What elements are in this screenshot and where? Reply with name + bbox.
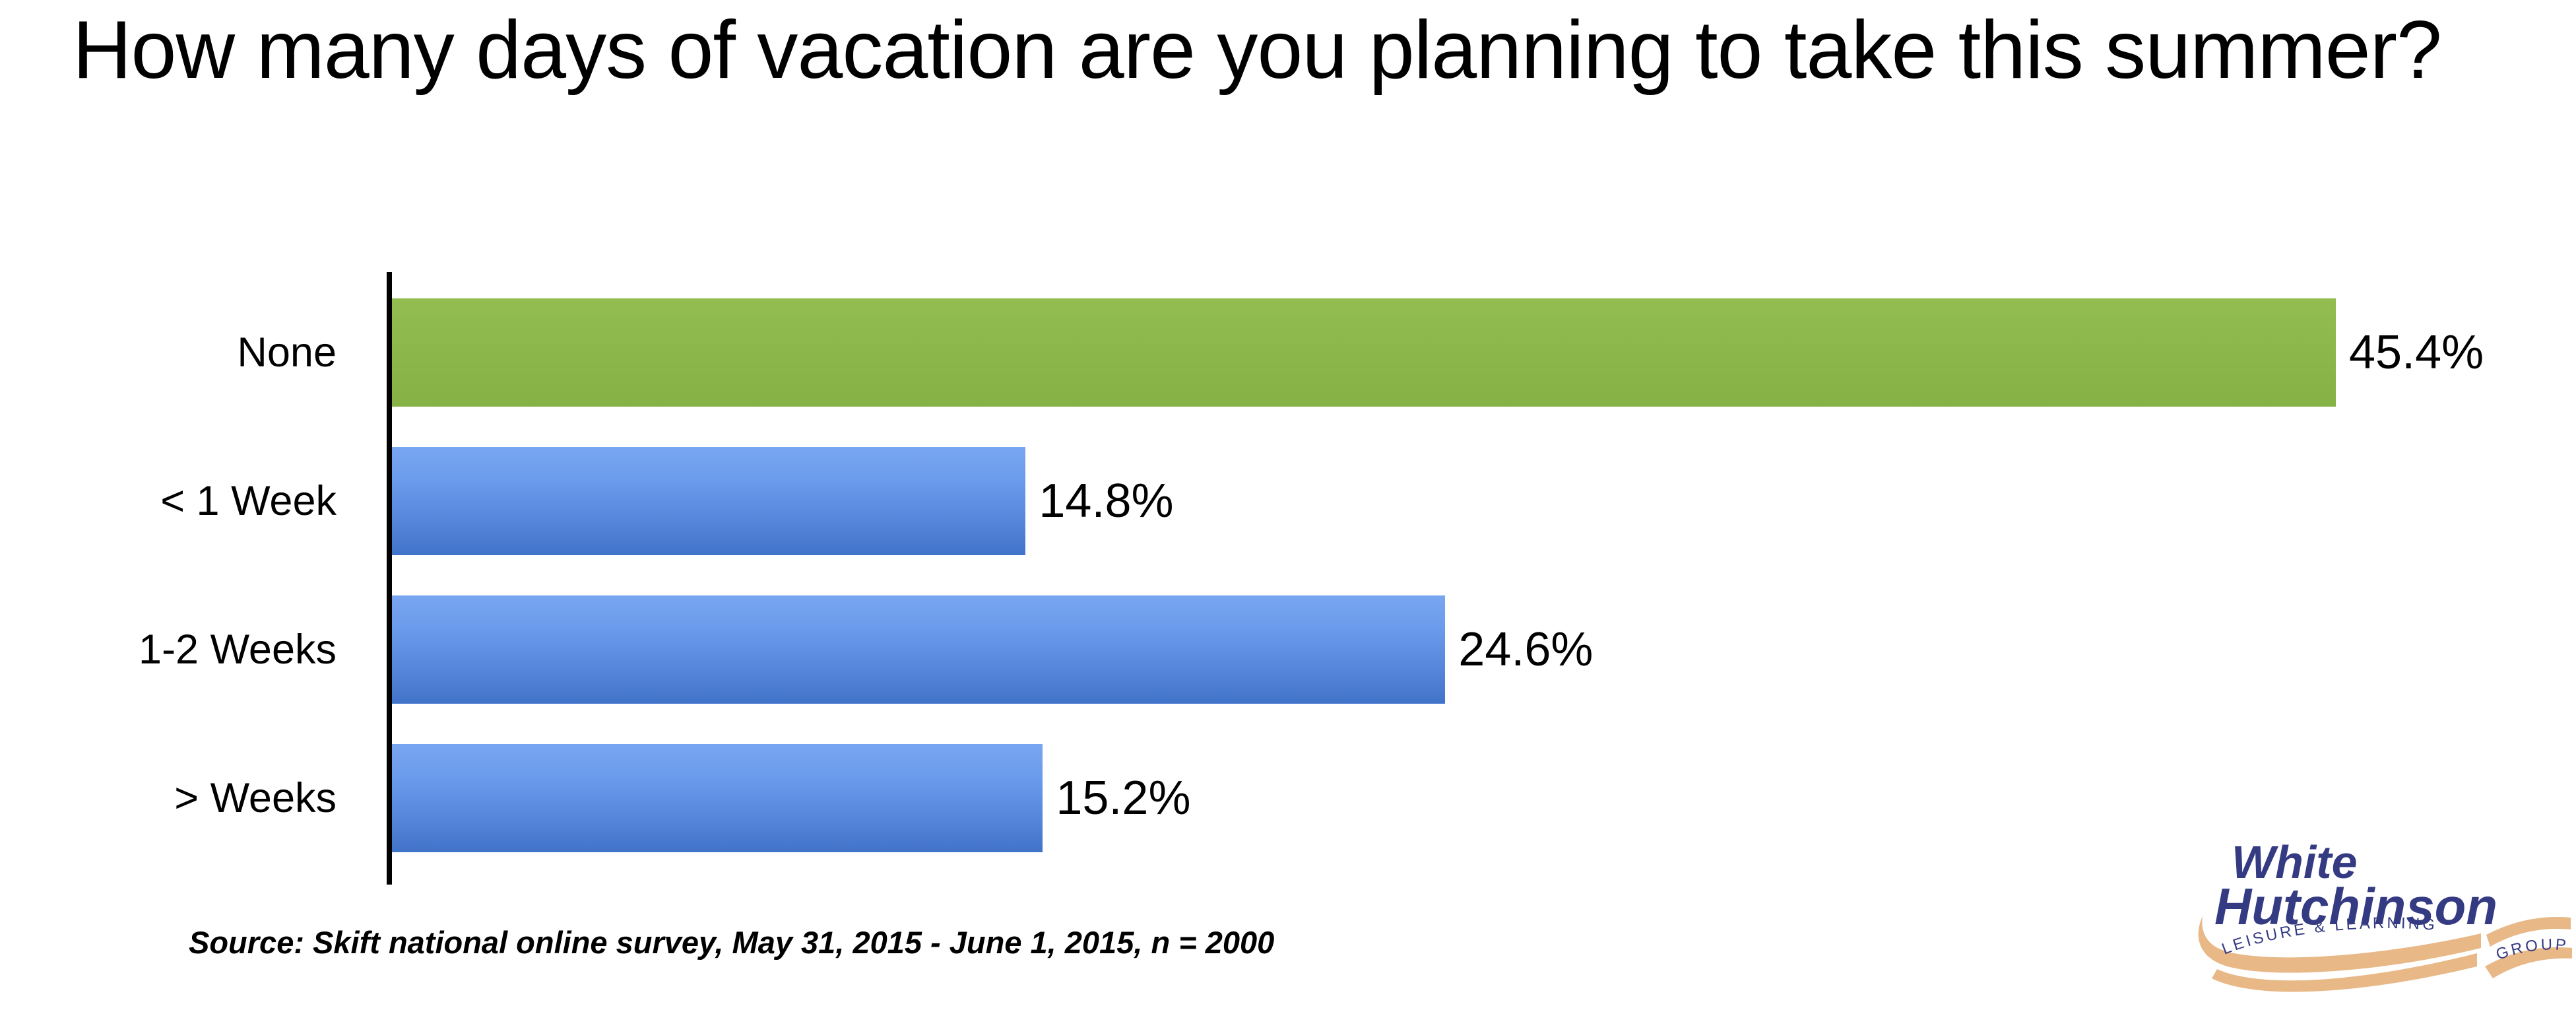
bar-value-label-3: 15.2% [1056,744,1190,852]
bar-1-2-weeks [392,595,1445,704]
bar-less-than-1-week [392,447,1025,555]
bar-row: 1-2 Weeks 24.6% [0,595,2576,704]
page-title: How many days of vacation are you planni… [73,0,2448,106]
bar-category-label-0: None [0,298,337,407]
white-hutchinson-logo: White Hutchinson LEISURE & LEARNING GROU… [2197,837,2576,1012]
bar-row: > Weeks 15.2% [0,744,2576,852]
bar-category-label-2: 1-2 Weeks [0,595,337,704]
bar-category-label-1: < 1 Week [0,447,337,555]
bar-row: None 45.4% [0,298,2576,407]
bar-greater-weeks [392,744,1043,852]
slide-canvas: How many days of vacation are you planni… [0,0,2576,1012]
bar-value-label-1: 14.8% [1039,447,1173,555]
bar-value-label-2: 24.6% [1458,595,1593,704]
bar-category-label-3: > Weeks [0,744,337,852]
bar-none [392,298,2336,407]
bar-row: < 1 Week 14.8% [0,447,2576,555]
source-citation: Source: Skift national online survey, Ma… [189,924,1274,961]
bar-value-label-0: 45.4% [2349,298,2484,407]
horizontal-bar-chart: None 45.4% < 1 Week 14.8% 1-2 Weeks 24.6… [0,269,2576,890]
